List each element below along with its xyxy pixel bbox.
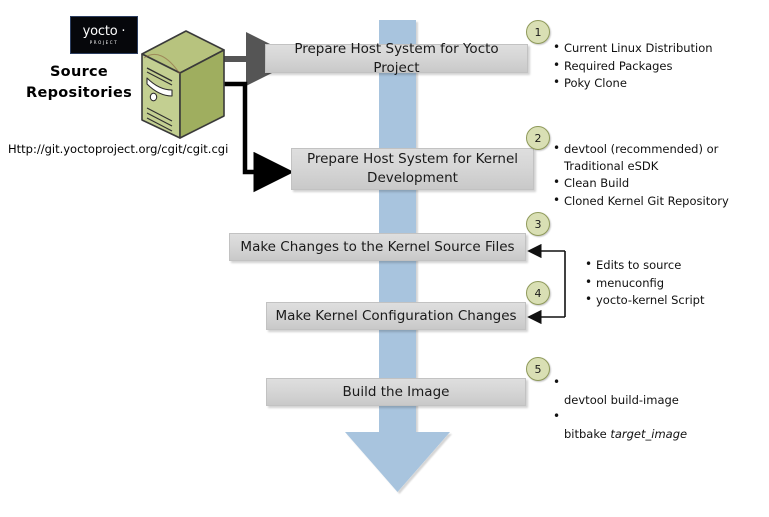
- list-item: Clean Build: [564, 175, 761, 192]
- step-number-4: 4: [535, 287, 542, 300]
- server-tower-icon: [128, 28, 228, 143]
- step5-bullet-2-italic: target_image: [610, 427, 687, 441]
- steps-3-4-shared-bullets: Edits to source menuconfig yocto-kernel …: [583, 257, 763, 310]
- step-5-box[interactable]: Build the Image: [266, 378, 526, 406]
- main-flow-arrow: [330, 18, 470, 508]
- step-1-box-label: Prepare Host System for Yocto Project: [274, 40, 519, 78]
- diagram-canvas: yocto · PROJECT Source Repositories Http…: [0, 0, 769, 517]
- yocto-logo-subtext: PROJECT: [90, 39, 118, 46]
- source-label-line1: Source: [20, 62, 138, 83]
- step-number-badge-1: 1: [526, 20, 550, 44]
- step5-bullet-2-text: bitbake: [564, 427, 610, 441]
- step-2-box[interactable]: Prepare Host System for Kernel Developme…: [291, 148, 534, 190]
- list-item: devtool (recommended) or Traditional eSD…: [564, 141, 761, 174]
- step-5-box-label: Build the Image: [343, 383, 450, 402]
- step-number-badge-3: 3: [526, 212, 550, 236]
- source-repository-url: Http://git.yoctoproject.org/cgit/cgit.cg…: [8, 142, 228, 156]
- yocto-logo-wordmark: yocto ·: [83, 25, 126, 38]
- list-item: yocto-kernel Script: [596, 292, 763, 309]
- step5-bullet-1-text: devtool build-image: [564, 393, 679, 407]
- list-item: Current Linux Distribution: [564, 40, 756, 57]
- step-number-badge-2: 2: [526, 126, 550, 150]
- source-repositories-label: Source Repositories: [20, 62, 138, 104]
- step-number-3: 3: [535, 218, 542, 231]
- step-1-box[interactable]: Prepare Host System for Yocto Project: [265, 44, 528, 73]
- list-item: menuconfig: [596, 275, 763, 292]
- source-label-line2: Repositories: [20, 83, 138, 104]
- step-5-bullets: devtool build-image bitbake target_image: [551, 375, 751, 443]
- step-4-box[interactable]: Make Kernel Configuration Changes: [266, 302, 526, 330]
- step-number-2: 2: [535, 132, 542, 145]
- list-item: Required Packages: [564, 58, 756, 75]
- list-item: bitbake target_image: [564, 409, 751, 442]
- step-number-badge-4: 4: [526, 281, 550, 305]
- yocto-project-logo: yocto · PROJECT: [70, 16, 138, 54]
- step-3-box-label: Make Changes to the Kernel Source Files: [240, 238, 514, 257]
- step-2-box-label: Prepare Host System for Kernel Developme…: [300, 150, 525, 188]
- step-number-badge-5: 5: [526, 357, 550, 381]
- step-2-bullets: devtool (recommended) or Traditional eSD…: [551, 141, 761, 210]
- list-item: Cloned Kernel Git Repository: [564, 193, 761, 210]
- list-item: Edits to source: [596, 257, 763, 274]
- step-number-1: 1: [535, 26, 542, 39]
- step-4-box-label: Make Kernel Configuration Changes: [275, 307, 516, 326]
- step-1-bullets: Current Linux Distribution Required Pack…: [551, 40, 756, 93]
- list-item: Poky Clone: [564, 75, 756, 92]
- step-number-5: 5: [535, 363, 542, 376]
- list-item: devtool build-image: [564, 375, 751, 408]
- step-3-box[interactable]: Make Changes to the Kernel Source Files: [229, 233, 526, 261]
